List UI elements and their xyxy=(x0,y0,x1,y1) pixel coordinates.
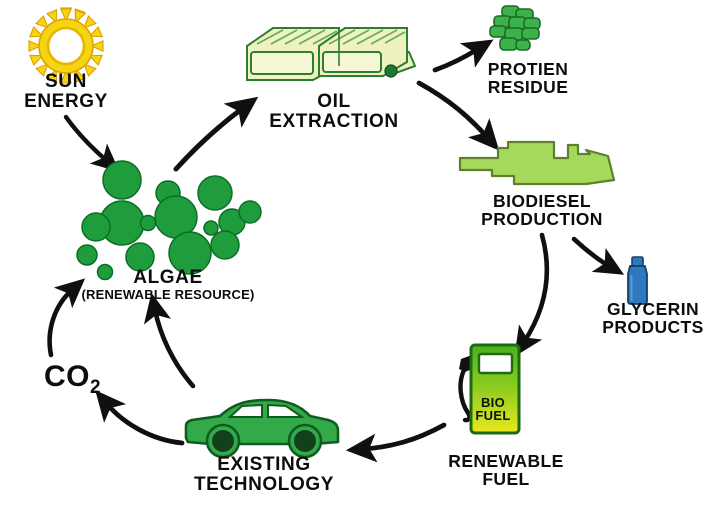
label-sun-energy: SUN ENERGY xyxy=(6,72,126,112)
oil-extraction-label-line1: OIL xyxy=(242,92,426,112)
arrow-biodiesel-to-renewable-fuel xyxy=(524,235,547,342)
biodiesel-label-line2: PRODUCTION xyxy=(452,210,632,228)
node-protein-residue xyxy=(486,4,548,62)
label-protein-residue: PROTIEN RESIDUE xyxy=(462,60,594,96)
label-biodiesel-production: BIODIESEL PRODUCTION xyxy=(452,192,632,228)
renewable-fuel-label-line1: RENEWABLE xyxy=(424,452,588,470)
factory-icon xyxy=(458,140,626,192)
co2-main: CO xyxy=(44,360,90,393)
fuel-pump-biofuel-text: BIO FUEL xyxy=(470,396,516,422)
protein-residue-label-line1: PROTIEN xyxy=(462,60,594,78)
node-oil-extraction xyxy=(243,22,425,94)
sun-label-line1: SUN xyxy=(6,72,126,92)
co2-subscript: 2 xyxy=(90,377,101,398)
label-algae: ALGAE (RENEWABLE RESOURCE) xyxy=(60,268,276,301)
sun-label-line2: ENERGY xyxy=(6,92,126,112)
glycerin-label-line2: PRODUCTS xyxy=(586,318,720,336)
node-existing-technology xyxy=(182,398,342,460)
node-renewable-fuel xyxy=(456,339,528,439)
existing-technology-label-line2: TECHNOLOGY xyxy=(168,475,360,495)
label-existing-technology: EXISTING TECHNOLOGY xyxy=(168,455,360,495)
protein-pellets-icon xyxy=(486,4,548,62)
algae-label-line1: ALGAE xyxy=(60,268,276,288)
pump-text-line2: FUEL xyxy=(475,408,510,423)
node-biodiesel-production xyxy=(458,140,626,192)
protein-residue-label-line2: RESIDUE xyxy=(462,78,594,96)
arrow-biodiesel-to-glycerin xyxy=(574,239,609,266)
label-oil-extraction: OIL EXTRACTION xyxy=(242,92,426,132)
arrow-renewable-fuel-to-car xyxy=(364,425,444,449)
label-co2: CO2 xyxy=(44,360,101,399)
existing-technology-label-line1: EXISTING xyxy=(168,455,360,475)
oil-extractor-icon xyxy=(243,22,425,94)
algae-label-sub: (RENEWABLE RESOURCE) xyxy=(60,288,276,302)
arrow-car-to-co2 xyxy=(107,404,182,443)
algae-biofuel-cycle-diagram: SUN ENERGY ALGAE xyxy=(0,0,720,509)
car-icon xyxy=(182,398,342,460)
renewable-fuel-label-line2: FUEL xyxy=(424,470,588,488)
arrow-sun-to-algae xyxy=(66,117,107,161)
biodiesel-label-line1: BIODIESEL xyxy=(452,192,632,210)
label-renewable-fuel: RENEWABLE FUEL xyxy=(424,452,588,488)
arrow-cycle-to-algae xyxy=(155,310,193,386)
glycerin-label-line1: GLYCERIN xyxy=(586,300,720,318)
label-glycerin-products: GLYCERIN PRODUCTS xyxy=(586,300,720,336)
fuel-pump-icon xyxy=(456,339,528,439)
oil-extraction-label-line2: EXTRACTION xyxy=(242,112,426,132)
